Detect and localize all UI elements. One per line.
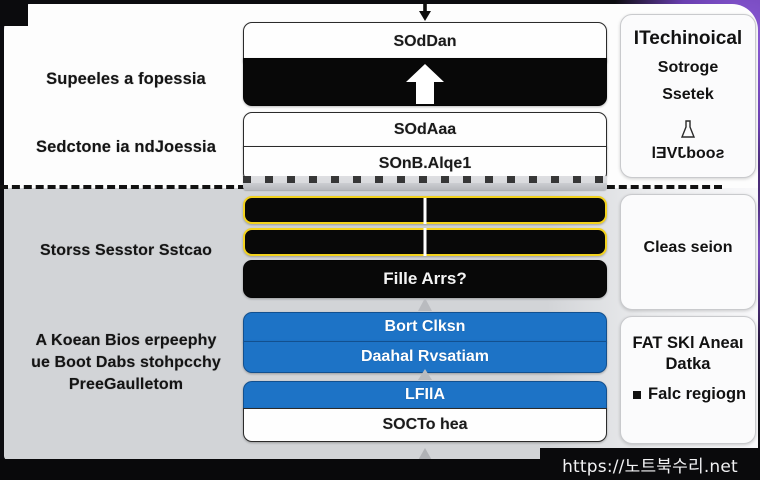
center-stack-column: SOdDan SOdAaa SOnB.Alqe1 Fille Arrs? [243,0,607,480]
card-technical-storage[interactable]: ITechinoical Sotroge Ssetek soodJVEl [620,14,756,178]
card-fat-area-data[interactable]: FAT SKl Aneaı Datka Falc regiogn [620,316,756,444]
box-sonaaa-label: SOdAaa [244,121,606,139]
bullet-square-icon [633,391,641,399]
center-tick-2 [424,228,427,256]
card-technical-title-3: Ssetek [627,84,749,105]
left-row-4-line-2: ue Boot Dabs stohpcchy [8,352,244,374]
left-row-3: Storss Sesstor Sstcao [8,242,244,260]
divider-ribbon [243,176,607,190]
card-technical-title-1: ITechinoical [627,27,749,51]
box-sctohea-label: SOCTo hea [244,416,606,434]
card-fat-line-2: Datka [629,354,747,375]
card-technical-title-2: Sotroge [627,57,749,78]
down-arrow-icon [415,2,435,22]
box-boot-clksn[interactable]: Bort Clksn [243,312,607,342]
card-class-section[interactable]: Cleas seion [620,194,756,310]
box-sonbalget-label: SOnB.Alqe1 [244,155,606,173]
left-label-column: Supeeles a fopessia Sedctone ia ndJoessi… [8,8,244,454]
box-lfila[interactable]: LFIlA [243,381,607,409]
box-boot-clksn-label: Bort Clksn [244,318,606,336]
connector-arrow-lower [417,369,433,381]
box-sctohea[interactable]: SOCTo hea [243,408,607,442]
card-class-section-text: Cleas seion [627,239,749,257]
box-sector[interactable]: SOdDan [243,22,607,62]
up-arrow-icon [403,62,447,104]
center-tick-1 [424,198,427,224]
flask-icon [677,119,699,141]
left-row-2: Sedctone ia ndJoessia [8,138,244,157]
card-technical-korean-label: soodJVEl [627,145,749,163]
box-file-array-label: Fille Arrs? [244,269,606,289]
box-lfila-label: LFIlA [244,386,606,404]
box-sonaaa[interactable]: SOdAaa [243,112,607,148]
card-fat-bullet-row: Falc regiogn [629,385,747,404]
box-sector-label: SOdDan [244,33,606,51]
card-fat-bullet-label: Falc regiogn [648,385,746,404]
diagram-canvas: Supeeles a fopessia Sedctone ia ndJoessi… [0,0,760,480]
left-row-4: A Koean Bios erpeephy ue Boot Dabs stohp… [8,330,244,396]
watermark: https://노트북수리.net [540,448,760,480]
left-row-4-line-1: A Koean Bios erpeephy [8,330,244,352]
left-row-4-line-3: PreeGaulletom [8,374,244,396]
box-file-array[interactable]: Fille Arrs? [243,260,607,298]
card-fat-line-1: FAT SKl Aneaı [629,333,747,354]
left-row-1: Supeeles a fopessia [8,70,244,89]
box-data-rvsatiam-label: Daahal Rvsatiam [244,348,606,366]
right-card-column: ITechinoical Sotroge Ssetek soodJVEl Cle… [620,0,756,480]
connector-arrow-mid [417,298,433,312]
divider-ribbon-teeth [243,176,607,183]
